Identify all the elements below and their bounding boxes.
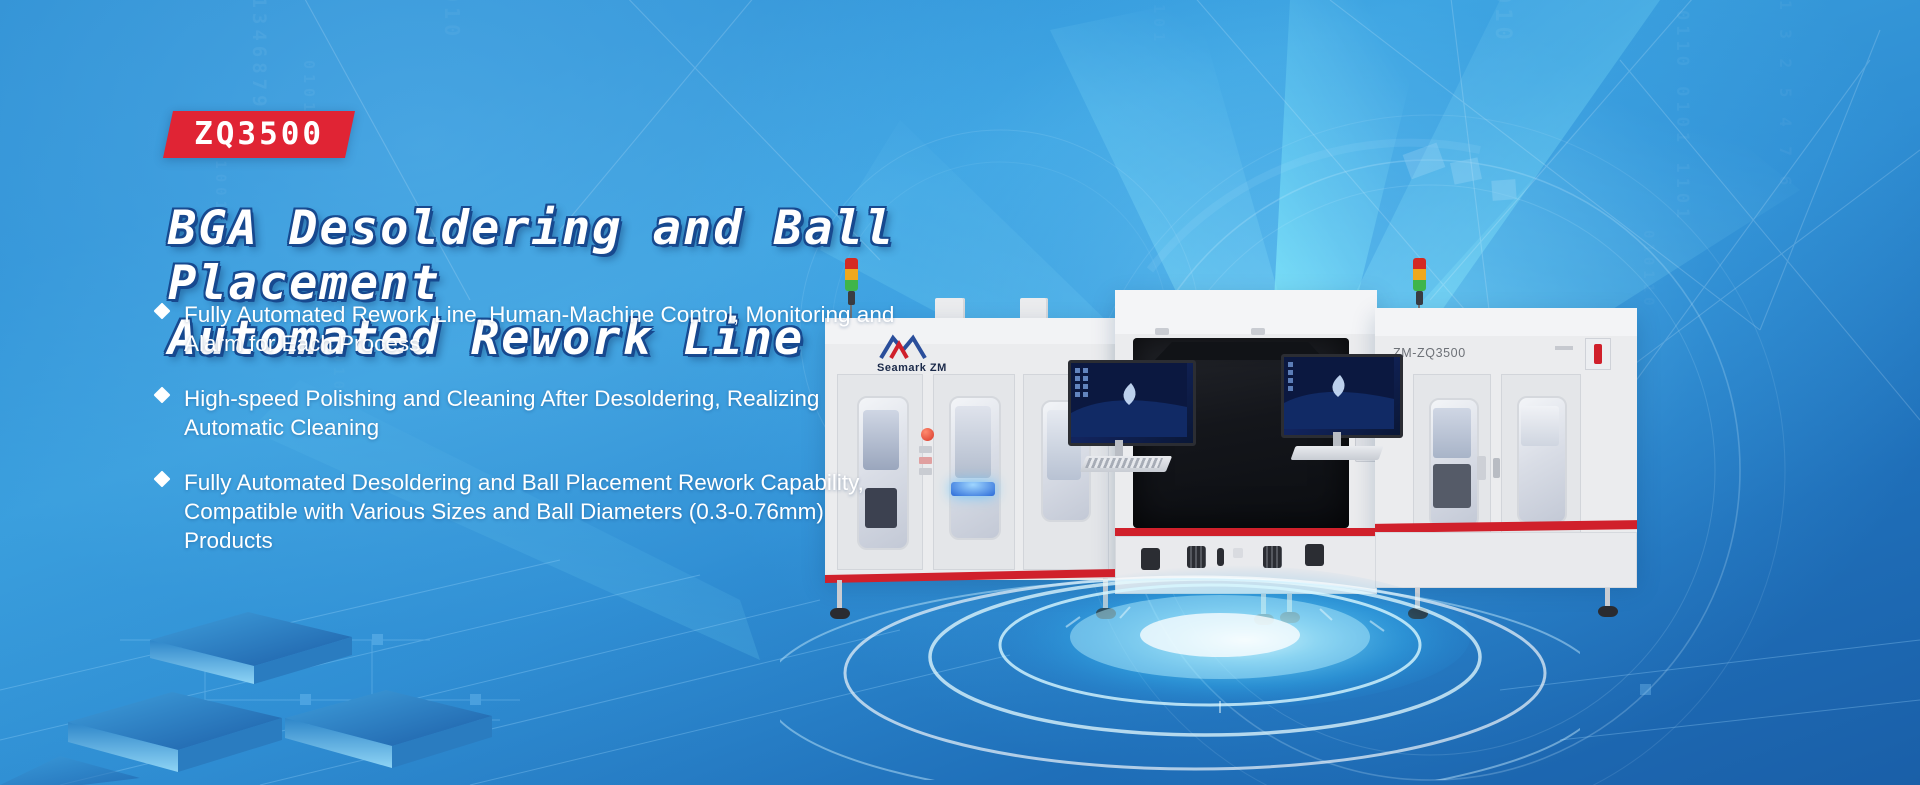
door-handle-right-1[interactable]: [1493, 458, 1500, 478]
headline-line-1: BGA Desoldering and Ball Placement: [168, 201, 895, 311]
model-badge-label: ZQ3500: [194, 116, 324, 152]
monitor-left-wallpaper: [1071, 363, 1187, 437]
inner-module-6: [1433, 464, 1471, 508]
tower-base-right: [1416, 291, 1423, 305]
keyboard-tray-right: [1290, 446, 1383, 460]
diamond-bullet-icon: [154, 387, 171, 404]
foot-6: [1598, 606, 1618, 617]
model-badge: ZQ3500: [163, 111, 355, 158]
door-handle-right-2[interactable]: [1477, 456, 1486, 480]
feature-text: High-speed Polishing and Cleaning After …: [184, 384, 910, 442]
extinguisher-cabinet: [1585, 338, 1611, 370]
machine-model-plate: ZM-ZQ3500: [1393, 346, 1466, 360]
list-item: High-speed Polishing and Cleaning After …: [150, 384, 910, 442]
feature-text: Fully Automated Rework Line, Human-Machi…: [184, 300, 910, 358]
banner-text-block: ZQ3500 BGA Desoldering and Ball Placemen…: [0, 0, 1040, 785]
signal-tower-right: [1413, 258, 1426, 291]
list-item: Fully Automated Rework Line, Human-Machi…: [150, 300, 910, 358]
monitor-right-wallpaper: [1284, 357, 1394, 429]
product-banner: 213468798 0101101 1101001 010 010 0110 0…: [0, 0, 1920, 785]
keyboard-left[interactable]: [1085, 458, 1163, 468]
diamond-bullet-icon: [154, 471, 171, 488]
center-knob-2: [1251, 328, 1265, 335]
diamond-bullet-icon: [154, 303, 171, 320]
list-item: Fully Automated Desoldering and Ball Pla…: [150, 468, 910, 555]
right-cabinet-top-rail: [1375, 308, 1637, 336]
feature-list: Fully Automated Rework Line, Human-Machi…: [150, 300, 910, 581]
inner-module-7: [1521, 406, 1559, 446]
right-label-bar: [1555, 346, 1573, 350]
feature-text: Fully Automated Desoldering and Ball Pla…: [184, 468, 910, 555]
inner-module-5: [1433, 408, 1471, 458]
